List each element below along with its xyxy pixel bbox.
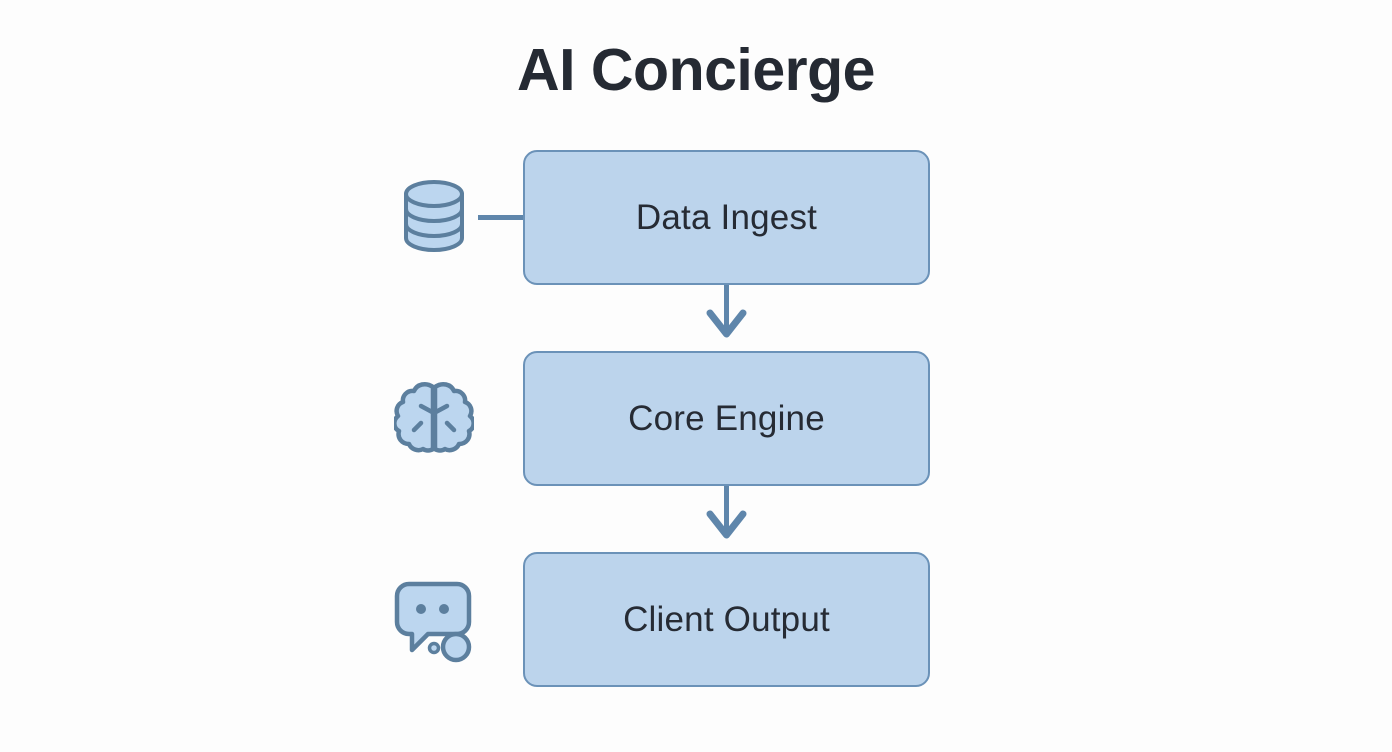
node-client-output[interactable]: Client Output (523, 552, 930, 687)
arrow-core-engine-to-client-output (710, 486, 743, 535)
node-core-engine[interactable]: Core Engine (523, 351, 930, 486)
node-data-ingest[interactable]: Data Ingest (523, 150, 930, 285)
database-icon (394, 174, 474, 262)
arrow-data-ingest-to-core-engine (710, 285, 743, 334)
node-label: Core Engine (628, 399, 825, 439)
diagram-canvas: AI Concierge (0, 0, 1392, 752)
node-label: Data Ingest (636, 198, 817, 238)
brain-icon (394, 375, 474, 463)
chat-bubble-icon (394, 576, 474, 664)
node-label: Client Output (623, 600, 830, 640)
page-title: AI Concierge (0, 38, 1392, 103)
